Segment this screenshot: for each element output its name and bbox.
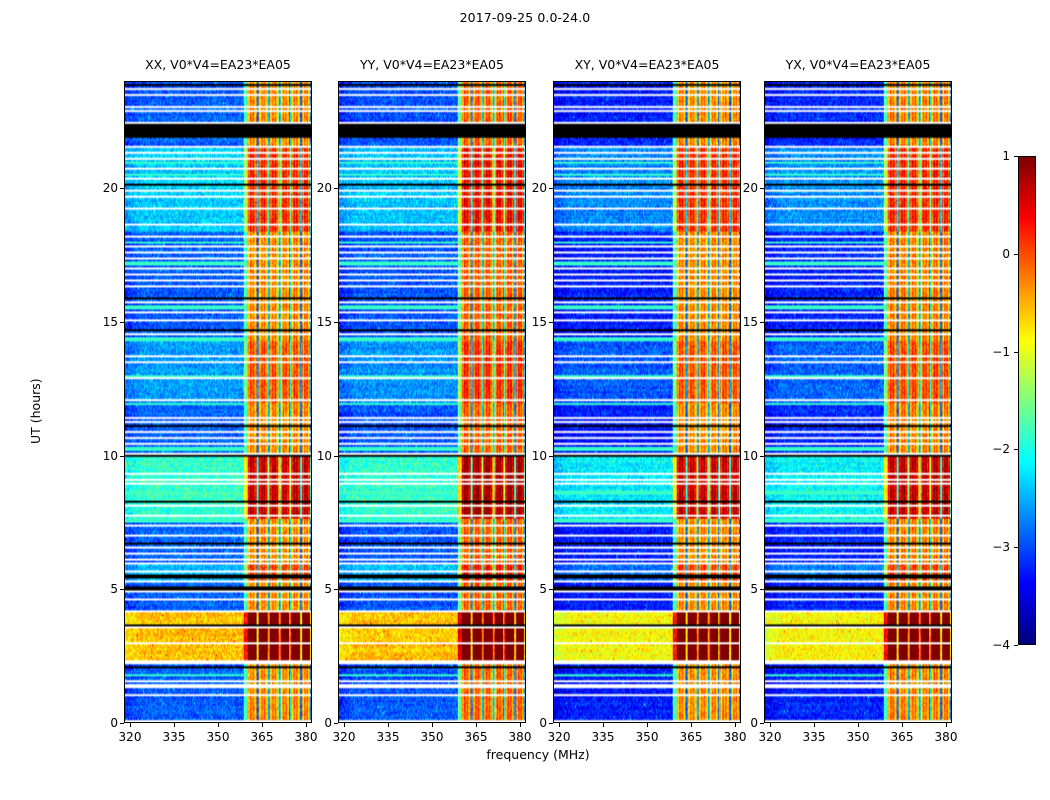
x-tick <box>946 723 947 727</box>
heatmap-panel-xx[interactable] <box>124 81 312 723</box>
y-tick <box>760 322 764 323</box>
y-tick <box>549 589 553 590</box>
y-tick <box>760 188 764 189</box>
colorbar-tick-label: 0 <box>984 247 1010 261</box>
y-tick <box>334 723 338 724</box>
x-tick <box>603 723 604 727</box>
colorbar[interactable] <box>1018 156 1036 645</box>
panel-title-xy: XY, V0*V4=EA23*EA05 <box>553 57 741 72</box>
x-tick <box>306 723 307 727</box>
y-tick-label: 15 <box>734 315 758 329</box>
colorbar-tick-label: −4 <box>984 638 1010 652</box>
y-tick <box>334 456 338 457</box>
colorbar-tick-label: −1 <box>984 345 1010 359</box>
x-tick-label: 350 <box>421 730 444 744</box>
y-tick-label: 0 <box>94 716 118 730</box>
x-tick-label: 365 <box>891 730 914 744</box>
x-tick-label: 365 <box>680 730 703 744</box>
y-tick-label: 5 <box>94 582 118 596</box>
heatmap-panel-yy[interactable] <box>338 81 526 723</box>
y-tick-label: 15 <box>308 315 332 329</box>
x-tick <box>902 723 903 727</box>
colorbar-gradient <box>1019 157 1035 644</box>
x-tick-label: 365 <box>251 730 274 744</box>
x-tick-label: 335 <box>377 730 400 744</box>
y-tick-label: 20 <box>734 181 758 195</box>
y-tick-label: 0 <box>308 716 332 730</box>
y-tick-label: 20 <box>523 181 547 195</box>
y-tick-label: 5 <box>734 582 758 596</box>
y-tick <box>549 188 553 189</box>
heatmap-panel-xy[interactable] <box>553 81 741 723</box>
x-tick-label: 335 <box>163 730 186 744</box>
colorbar-tick <box>1014 645 1018 646</box>
figure-suptitle: 2017-09-25 0.0-24.0 <box>0 10 1050 25</box>
x-tick <box>388 723 389 727</box>
x-tick <box>344 723 345 727</box>
x-tick <box>814 723 815 727</box>
y-tick <box>760 456 764 457</box>
x-tick-label: 335 <box>592 730 615 744</box>
y-tick-label: 15 <box>94 315 118 329</box>
y-tick <box>334 589 338 590</box>
x-tick-label: 380 <box>509 730 532 744</box>
y-tick <box>120 188 124 189</box>
y-tick <box>334 188 338 189</box>
x-tick <box>520 723 521 727</box>
x-tick-label: 320 <box>759 730 782 744</box>
y-tick-label: 5 <box>523 582 547 596</box>
panel-title-yy: YY, V0*V4=EA23*EA05 <box>338 57 526 72</box>
heatmap-image-yx <box>765 82 951 722</box>
y-tick-label: 20 <box>308 181 332 195</box>
colorbar-tick <box>1014 449 1018 450</box>
x-tick <box>218 723 219 727</box>
y-tick <box>760 723 764 724</box>
y-tick-label: 5 <box>308 582 332 596</box>
x-tick <box>691 723 692 727</box>
x-tick <box>432 723 433 727</box>
x-tick-label: 320 <box>548 730 571 744</box>
colorbar-tick-label: 1 <box>984 149 1010 163</box>
x-tick <box>174 723 175 727</box>
y-tick <box>120 723 124 724</box>
y-axis-title: UT (hours) <box>28 378 43 444</box>
x-tick <box>476 723 477 727</box>
x-tick-label: 380 <box>724 730 747 744</box>
colorbar-tick <box>1014 254 1018 255</box>
y-tick <box>120 456 124 457</box>
colorbar-tick <box>1014 547 1018 548</box>
y-tick-label: 15 <box>523 315 547 329</box>
y-tick <box>549 723 553 724</box>
x-tick-label: 320 <box>119 730 142 744</box>
x-tick <box>559 723 560 727</box>
x-tick-label: 350 <box>636 730 659 744</box>
x-tick <box>770 723 771 727</box>
figure-canvas: 2017-09-25 0.0-24.0 frequency (MHz) UT (… <box>0 0 1050 800</box>
x-tick <box>262 723 263 727</box>
panel-title-xx: XX, V0*V4=EA23*EA05 <box>124 57 312 72</box>
y-tick-label: 10 <box>94 449 118 463</box>
heatmap-image-yy <box>339 82 525 722</box>
x-tick-label: 320 <box>333 730 356 744</box>
x-tick <box>647 723 648 727</box>
x-tick-label: 335 <box>803 730 826 744</box>
y-tick-label: 0 <box>523 716 547 730</box>
y-tick <box>549 322 553 323</box>
y-tick-label: 10 <box>734 449 758 463</box>
x-tick <box>130 723 131 727</box>
colorbar-tick <box>1014 352 1018 353</box>
y-tick <box>334 322 338 323</box>
x-tick-label: 350 <box>847 730 870 744</box>
x-tick-label: 380 <box>935 730 958 744</box>
y-tick-label: 0 <box>734 716 758 730</box>
heatmap-panel-yx[interactable] <box>764 81 952 723</box>
x-tick-label: 350 <box>207 730 230 744</box>
y-tick <box>760 589 764 590</box>
x-axis-title: frequency (MHz) <box>124 747 952 762</box>
colorbar-tick-label: −3 <box>984 540 1010 554</box>
y-tick <box>549 456 553 457</box>
panel-title-yx: YX, V0*V4=EA23*EA05 <box>764 57 952 72</box>
y-tick-label: 10 <box>308 449 332 463</box>
colorbar-tick-label: −2 <box>984 442 1010 456</box>
y-tick-label: 20 <box>94 181 118 195</box>
y-tick <box>120 589 124 590</box>
heatmap-image-xy <box>554 82 740 722</box>
y-tick-label: 10 <box>523 449 547 463</box>
x-tick <box>858 723 859 727</box>
colorbar-tick <box>1014 156 1018 157</box>
y-tick <box>120 322 124 323</box>
x-tick-label: 365 <box>465 730 488 744</box>
x-tick-label: 380 <box>295 730 318 744</box>
heatmap-image-xx <box>125 82 311 722</box>
